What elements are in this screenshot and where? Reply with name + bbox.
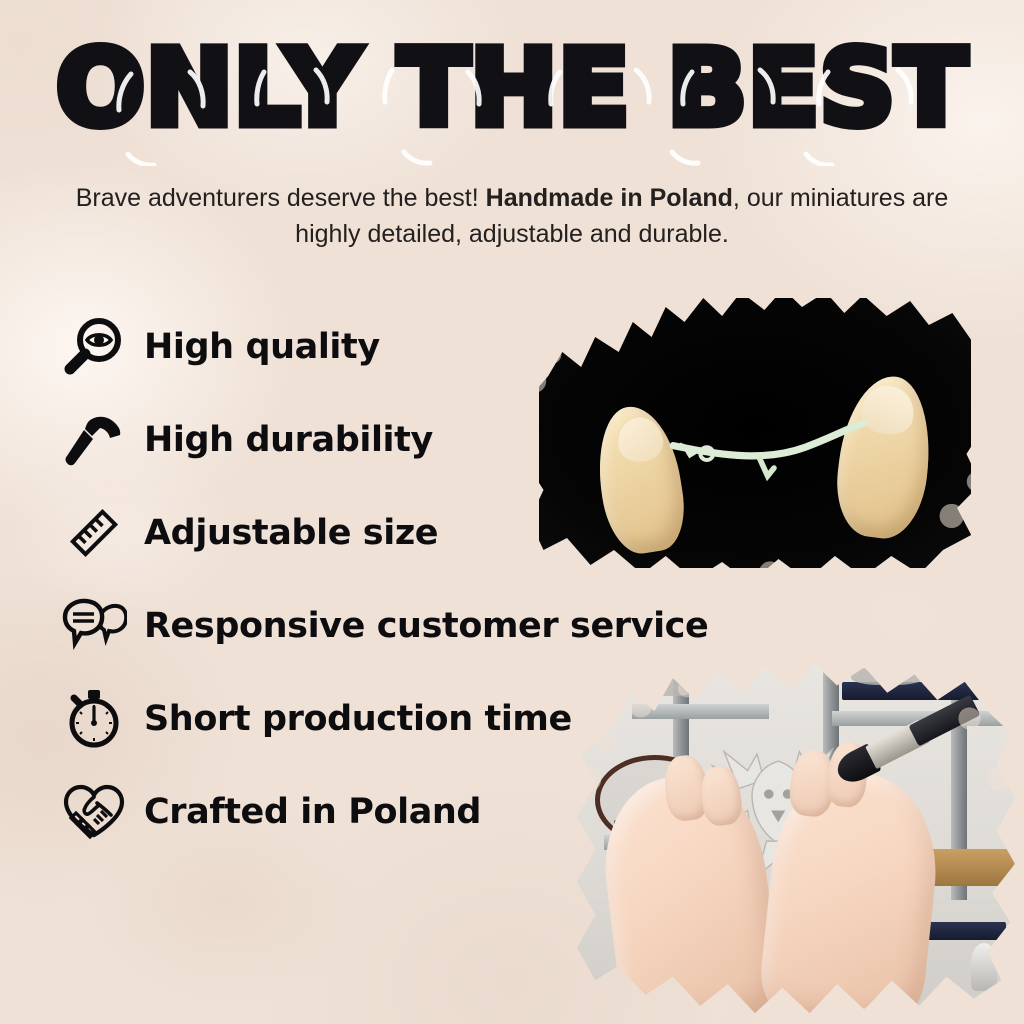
small-miniature bbox=[971, 943, 997, 991]
ruler-icon bbox=[58, 497, 130, 569]
feature-label: High durability bbox=[144, 420, 433, 460]
heart-handshake-icon bbox=[58, 776, 130, 848]
feature-label: Responsive customer service bbox=[144, 606, 708, 646]
promo-poster: ONLY THE BEST Brave adventurers deserve … bbox=[0, 0, 1024, 1024]
feature-label: Short production time bbox=[144, 699, 572, 739]
feature-item-high-durability: High durability bbox=[58, 393, 778, 486]
feature-item-crafted-in-poland: Crafted in Poland bbox=[58, 765, 778, 858]
title-gloss-highlights bbox=[0, 36, 1024, 166]
magnifier-eye-icon bbox=[58, 311, 130, 383]
feature-label: Adjustable size bbox=[144, 513, 438, 553]
feature-item-short-production-time: Short production time bbox=[58, 672, 778, 765]
feature-item-responsive-customer-service: Responsive customer service bbox=[58, 579, 778, 672]
hammer-icon bbox=[58, 404, 130, 476]
stopwatch-icon bbox=[58, 683, 130, 755]
shelf-clutter-b bbox=[851, 667, 924, 685]
feature-item-high-quality: High quality bbox=[58, 300, 778, 393]
subtitle-bold: Handmade in Poland bbox=[486, 184, 733, 212]
subtitle-lead: Brave adventurers deserve the best! bbox=[76, 184, 479, 212]
feature-label: Crafted in Poland bbox=[144, 792, 481, 832]
subtitle: Brave adventurers deserve the best! Hand… bbox=[62, 180, 962, 253]
feature-item-adjustable-size: Adjustable size bbox=[58, 486, 778, 579]
speech-bubbles-icon bbox=[58, 590, 130, 662]
feature-label: High quality bbox=[144, 327, 380, 367]
feature-list: High quality High durability Adj bbox=[58, 300, 778, 858]
parts-tray-top bbox=[842, 682, 997, 700]
